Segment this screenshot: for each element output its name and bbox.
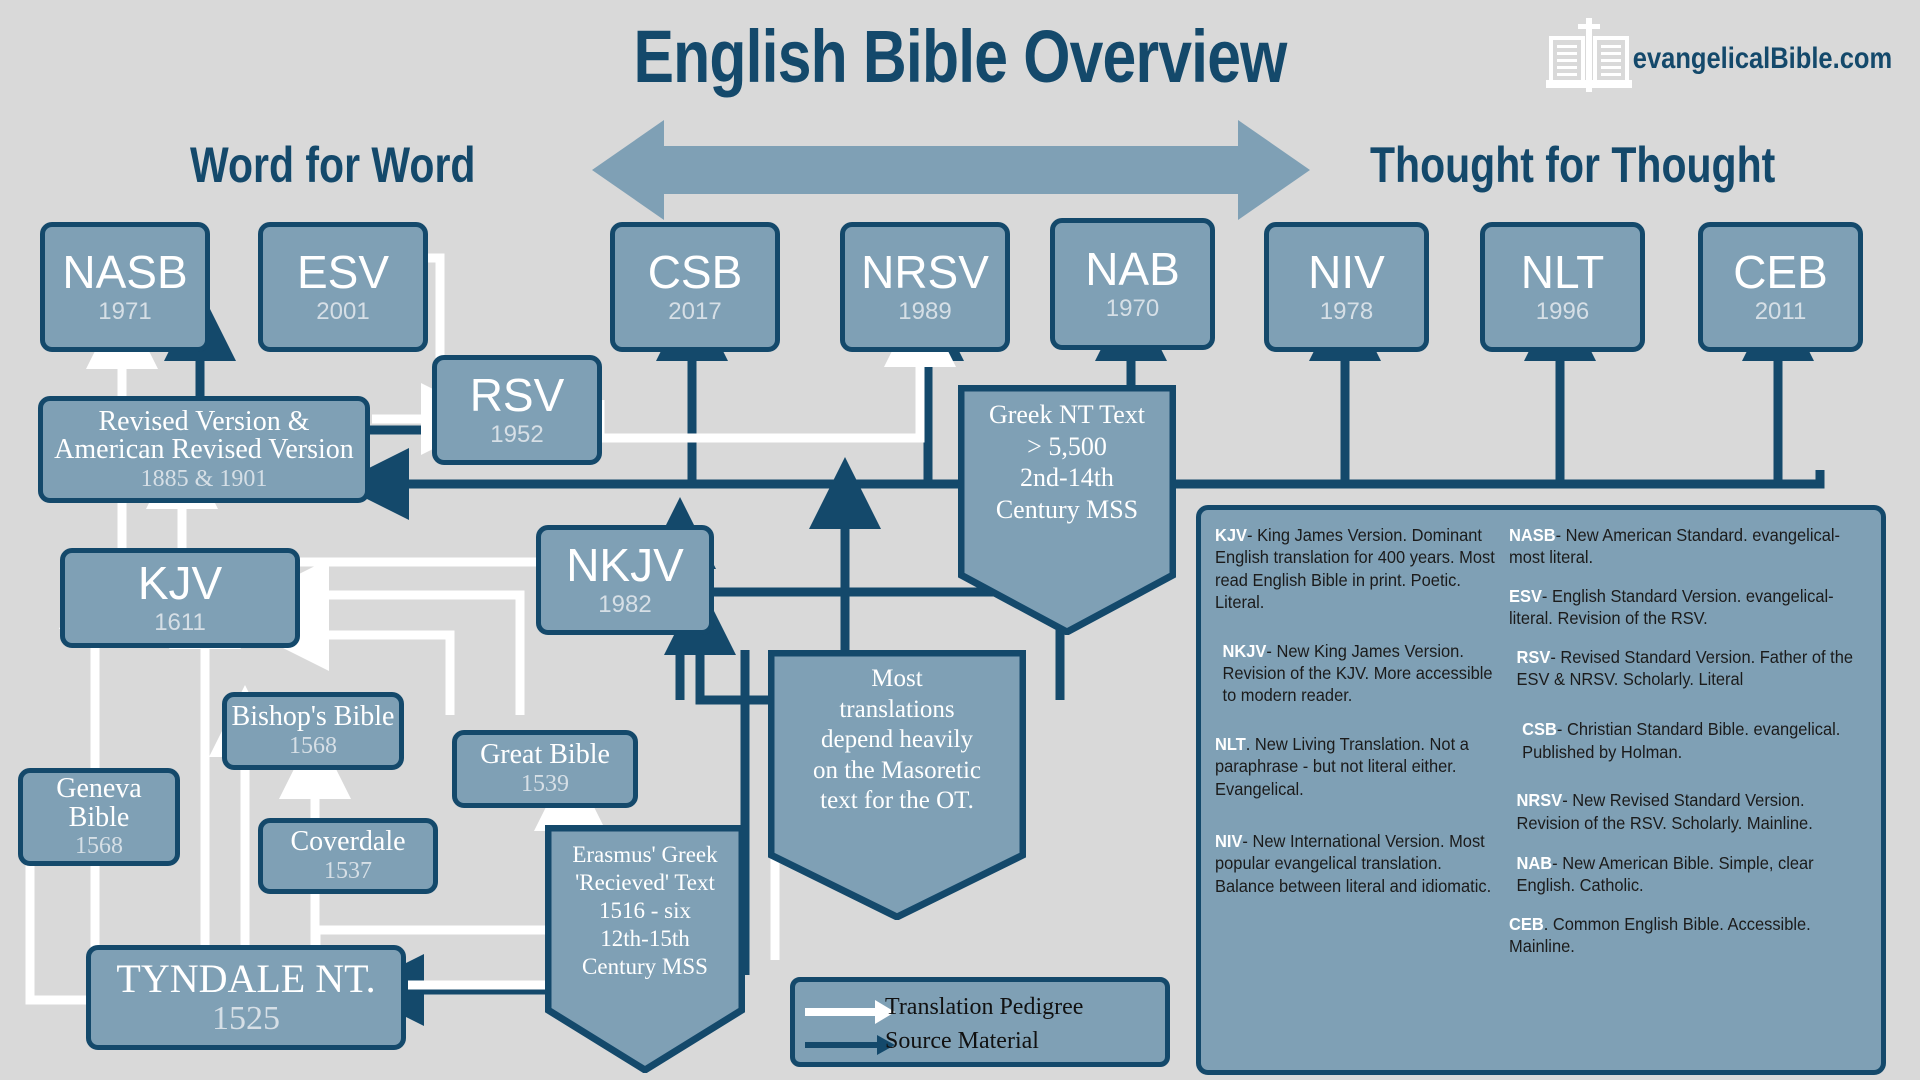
legend-text: Revised Standard Version. Father of the …	[1517, 647, 1854, 689]
legend-sep: -	[1550, 647, 1560, 667]
box-nrsv[interactable]: NRSV 1989	[840, 222, 1010, 352]
legend-item: ESV- English Standard Version. evangelic…	[1509, 585, 1866, 630]
box-year: 1539	[521, 772, 569, 796]
white-arrow-icon	[805, 1000, 895, 1024]
legend-item: CEB. Common English Bible. Accessible. M…	[1509, 913, 1866, 958]
legend-column-2: NASB- New American Standard. evangelical…	[1509, 524, 1889, 973]
legend-item: CSB- Christian Standard Bible. evangelic…	[1509, 718, 1866, 763]
double-headed-arrow-icon	[592, 120, 1310, 220]
box-revised-version[interactable]: Revised Version & American Revised Versi…	[38, 396, 370, 503]
box-csb[interactable]: CSB 2017	[610, 222, 780, 352]
legend-item: NASB- New American Standard. evangelical…	[1509, 524, 1866, 569]
legend-text: New International Version. Most popular …	[1215, 831, 1491, 896]
legend-text: English Standard Version. evangelical- l…	[1509, 586, 1834, 628]
box-name: Bishop's Bible	[232, 703, 395, 732]
legend-item: NKJV- New King James Version. Revision o…	[1215, 640, 1497, 707]
box-nasb[interactable]: NASB 1971	[40, 222, 210, 352]
shield-greek-text: Greek NT Text > 5,500 2nd-14th Century M…	[967, 385, 1167, 526]
shield-line: Century MSS	[550, 953, 740, 981]
key-source-label: Source Material	[885, 1028, 1039, 1055]
legend-sep: -	[1266, 641, 1276, 661]
box-name: Great Bible	[480, 741, 610, 770]
shield-line: Century MSS	[967, 494, 1167, 526]
shield-line: 2nd-14th	[967, 462, 1167, 494]
box-great-bible[interactable]: Great Bible 1539	[452, 730, 638, 808]
legend-text: Common English Bible. Accessible. Mainli…	[1509, 914, 1811, 956]
shield-line: 'Recieved' Text	[550, 869, 740, 897]
box-name: RSV	[470, 372, 565, 419]
abbreviation-legend-panel: KJV- King James Version. Dominant Englis…	[1196, 505, 1886, 1075]
box-nab[interactable]: NAB 1970	[1050, 218, 1215, 350]
legend-item: KJV- King James Version. Dominant Englis…	[1215, 524, 1497, 614]
box-name: NKJV	[566, 542, 684, 589]
box-year: 1952	[490, 423, 543, 447]
box-kjv[interactable]: KJV 1611	[60, 548, 300, 648]
legend-key-box: Translation Pedigree Source Material	[790, 977, 1170, 1067]
box-name: Revised Version & American Revised Versi…	[54, 408, 354, 465]
box-name: NIV	[1308, 249, 1385, 296]
shield-line: 1516 - six	[550, 897, 740, 925]
box-name: Coverdale	[290, 828, 405, 857]
legend-abbr: NLT	[1215, 734, 1246, 754]
box-name: ESV	[297, 249, 389, 296]
legend-abbr: RSV	[1517, 647, 1551, 667]
shield-line: Erasmus' Greek	[550, 841, 740, 869]
box-name: CSB	[648, 249, 743, 296]
shield-erasmus-text: Erasmus' Greek 'Recieved' Text 1516 - si…	[550, 825, 740, 981]
legend-abbr: CSB	[1522, 719, 1557, 739]
shield-line: Most	[777, 664, 1017, 695]
shield-line: translations	[777, 695, 1017, 726]
legend-abbr: ESV	[1509, 586, 1542, 606]
legend-sep: -	[1556, 525, 1566, 545]
legend-item: RSV- Revised Standard Version. Father of…	[1509, 646, 1888, 691]
shield-line: text for the OT.	[777, 786, 1017, 817]
box-year: 1885 & 1901	[141, 467, 268, 491]
box-name: NRSV	[861, 249, 989, 296]
shield-line: 12th-15th	[550, 925, 740, 953]
legend-item: NLT. New Living Translation. Not a parap…	[1215, 733, 1497, 800]
legend-abbr: KJV	[1215, 525, 1247, 545]
legend-sep: .	[1544, 914, 1553, 934]
box-year: 2011	[1755, 300, 1807, 324]
box-name: CEB	[1733, 249, 1828, 296]
shield-masoretic: Most translations depend heavily on the …	[768, 650, 1026, 920]
box-year: 1611	[154, 611, 206, 635]
box-ceb[interactable]: CEB 2011	[1698, 222, 1863, 352]
box-year: 1982	[598, 593, 651, 617]
box-year: 1568	[289, 734, 337, 758]
box-year: 2017	[668, 300, 721, 324]
box-name: KJV	[138, 560, 222, 607]
shield-masoretic-text: Most translations depend heavily on the …	[777, 650, 1017, 817]
box-name: NAB	[1085, 246, 1180, 293]
shield-line: Greek NT Text	[967, 399, 1167, 431]
shield-line: > 5,500	[967, 431, 1167, 463]
box-rsv[interactable]: RSV 1952	[432, 355, 602, 465]
legend-item: NRSV- New Revised Standard Version. Revi…	[1509, 789, 1866, 834]
legend-sep: -	[1562, 790, 1572, 810]
box-coverdale[interactable]: Coverdale 1537	[258, 818, 438, 894]
box-name: NASB	[62, 249, 187, 296]
legend-abbr: NKJV	[1223, 641, 1267, 661]
legend-text: King James Version. Dominant English tra…	[1215, 525, 1495, 612]
box-tyndale-nt[interactable]: TYNDALE NT. 1525	[86, 945, 406, 1050]
box-year: 1537	[324, 859, 372, 883]
shield-line: depend heavily	[777, 725, 1017, 756]
box-year: 1978	[1320, 300, 1373, 324]
key-pedigree-label: Translation Pedigree	[885, 994, 1083, 1021]
shield-greek-nt: Greek NT Text > 5,500 2nd-14th Century M…	[958, 385, 1176, 635]
box-esv[interactable]: ESV 2001	[258, 222, 428, 352]
box-name: NLT	[1521, 249, 1605, 296]
box-nkjv[interactable]: NKJV 1982	[536, 525, 714, 635]
legend-text: Christian Standard Bible. evangelical. P…	[1522, 719, 1840, 761]
legend-abbr: NASB	[1509, 525, 1556, 545]
box-year: 2001	[316, 300, 369, 324]
box-name: TYNDALE NT.	[116, 959, 375, 1000]
box-name: Geneva Bible	[56, 775, 142, 832]
box-year: 1996	[1536, 300, 1589, 324]
legend-sep: -	[1242, 831, 1252, 851]
legend-sep: -	[1557, 719, 1567, 739]
shield-erasmus: Erasmus' Greek 'Recieved' Text 1516 - si…	[545, 825, 745, 1073]
legend-column-1: KJV- King James Version. Dominant Englis…	[1215, 524, 1515, 913]
box-geneva-bible[interactable]: Geneva Bible 1568	[18, 768, 180, 866]
box-nlt[interactable]: NLT 1996	[1480, 222, 1645, 352]
legend-abbr: NAB	[1517, 853, 1553, 873]
box-year: 1568	[75, 834, 123, 858]
navy-arrow-icon	[805, 1035, 895, 1055]
legend-item: NIV- New International Version. Most pop…	[1215, 830, 1497, 897]
legend-abbr: NRSV	[1517, 790, 1563, 810]
legend-sep: -	[1552, 853, 1562, 873]
infographic-canvas: English Bible Overview evangelicalBible.…	[0, 0, 1920, 1080]
legend-sep: -	[1247, 525, 1257, 545]
box-year: 1970	[1106, 297, 1159, 321]
box-bishops-bible[interactable]: Bishop's Bible 1568	[222, 692, 404, 770]
box-niv[interactable]: NIV 1978	[1264, 222, 1429, 352]
shield-line: on the Masoretic	[777, 756, 1017, 787]
box-year: 1971	[98, 300, 151, 324]
box-year: 1989	[898, 300, 951, 324]
legend-abbr: NIV	[1215, 831, 1242, 851]
legend-sep: -	[1542, 586, 1552, 606]
legend-item: NAB- New American Bible. Simple, clear E…	[1509, 852, 1866, 897]
legend-abbr: CEB	[1509, 914, 1544, 934]
box-year: 1525	[212, 1002, 280, 1037]
